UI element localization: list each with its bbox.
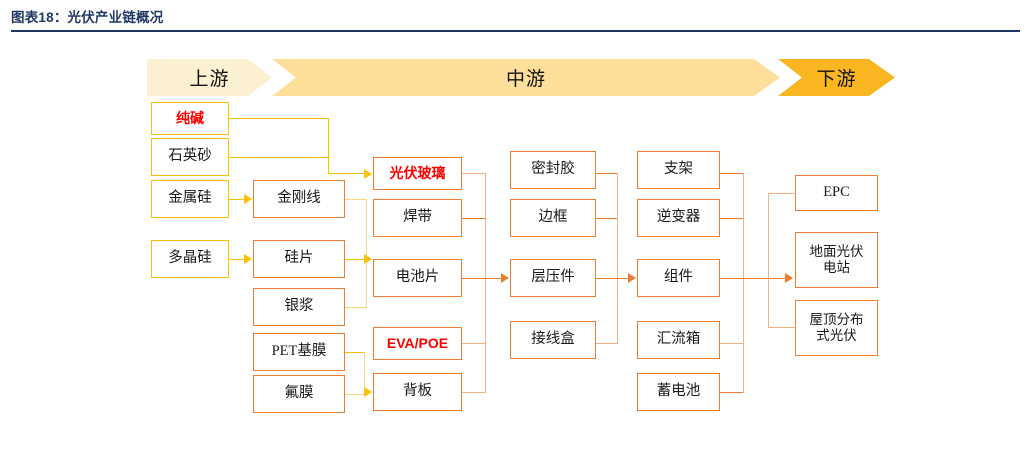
node-storage-battery: 蓄电池: [637, 373, 720, 411]
link-ribbon-bracket: [462, 218, 486, 219]
node-inverter: 逆变器: [637, 199, 720, 237]
link-inverter-bracket: [720, 218, 744, 219]
node-ground-pv-plant: 地面光伏 电站: [795, 232, 878, 288]
link-module-out-bracket: [720, 278, 744, 279]
node-soda-ash: 纯碱: [151, 102, 229, 135]
link-polysi-to-wafer: [229, 259, 245, 260]
node-rooftop-distributed-pv: 屋顶分布 式光伏: [795, 300, 878, 356]
node-laminate: 层压件: [510, 259, 596, 297]
node-silver-paste: 银浆: [253, 288, 345, 326]
link-eva-bracket: [462, 343, 486, 344]
diagram-canvas: 上游 中游 下游 纯碱 石英砂 金属硅 多晶硅 金刚线 硅片 银浆 PET基膜 …: [0, 33, 1031, 458]
link-laminate-out-bracket: [596, 278, 618, 279]
link-junction-to-glass: [328, 173, 366, 174]
link-metalsi-to-wire: [229, 199, 245, 200]
link-junctionbox-bracket: [596, 343, 618, 344]
link-mount-bracket: [720, 173, 744, 174]
arrow-to-silicon-wafer: [244, 254, 252, 264]
link-quartz-to-junction: [229, 157, 329, 158]
node-polysilicon: 多晶硅: [151, 240, 229, 278]
node-diamond-wire: 金刚线: [253, 180, 345, 218]
node-fluorine-film: 氟膜: [253, 375, 345, 413]
node-epc: EPC: [795, 175, 878, 211]
banner-midstream: 中游: [272, 59, 780, 96]
title-divider: [11, 30, 1020, 32]
link-sealant-bracket: [596, 173, 618, 174]
arrow-to-diamond-wire: [244, 194, 252, 204]
node-combiner-box: 汇流箱: [637, 321, 720, 359]
link-junction-to-ground-plant: [743, 278, 787, 279]
link-junction-to-epc: [768, 193, 796, 194]
link-module-bracket-vert: [617, 173, 618, 344]
link-cell-bracket: [462, 278, 486, 279]
arrow-to-backsheet: [364, 387, 372, 397]
arrow-to-pv-glass: [364, 169, 372, 179]
link-junction-glass-drop: [328, 140, 329, 174]
link-paste-bracket: [345, 307, 367, 308]
link-battery-bracket: [720, 392, 744, 393]
node-solar-cell: 电池片: [373, 259, 462, 297]
link-downstream-fan-vert: [768, 193, 769, 328]
node-pet-base-film: PET基膜: [253, 333, 345, 371]
node-mounting-bracket: 支架: [637, 151, 720, 189]
link-combiner-bracket: [720, 343, 744, 344]
banner-upstream: 上游: [147, 59, 272, 96]
node-backsheet: 背板: [373, 373, 462, 411]
chart-title-bar: 图表18：光伏产业链概况: [11, 6, 1020, 26]
link-backsheet-bracket: [462, 392, 486, 393]
banner-midstream-label: 中游: [506, 64, 546, 91]
link-wire-bracket: [345, 199, 367, 200]
arrow-to-solar-cell: [364, 254, 372, 264]
link-downstream-bracket-vert: [743, 173, 744, 393]
banner-downstream-label: 下游: [816, 64, 856, 91]
banner-downstream: 下游: [778, 59, 895, 96]
arrow-to-ground-plant: [785, 273, 793, 283]
arrow-to-pv-module: [628, 273, 636, 283]
node-frame: 边框: [510, 199, 596, 237]
arrow-to-laminate: [501, 273, 509, 283]
banner-upstream-label: 上游: [189, 64, 229, 91]
link-junction-to-rooftop: [768, 327, 796, 328]
node-solder-ribbon: 焊带: [373, 199, 462, 237]
node-junction-box: 接线盒: [510, 321, 596, 359]
link-frame-bracket: [596, 218, 618, 219]
link-glass-bracket: [462, 173, 486, 174]
node-silicon-wafer: 硅片: [253, 240, 345, 278]
link-soda-to-junction: [229, 118, 329, 119]
node-eva-poe: EVA/POE: [373, 327, 462, 360]
node-pv-module: 组件: [637, 259, 720, 297]
node-sealant: 密封胶: [510, 151, 596, 189]
link-pet-bracket: [345, 352, 365, 353]
link-laminate-bracket-vert: [485, 173, 486, 393]
page-title: 图表18：光伏产业链概况: [11, 6, 1020, 26]
node-pv-glass: 光伏玻璃: [373, 157, 462, 190]
node-quartz-sand: 石英砂: [151, 138, 229, 176]
link-fluorfilm-bracket: [345, 394, 365, 395]
node-metal-silicon: 金属硅: [151, 180, 229, 218]
